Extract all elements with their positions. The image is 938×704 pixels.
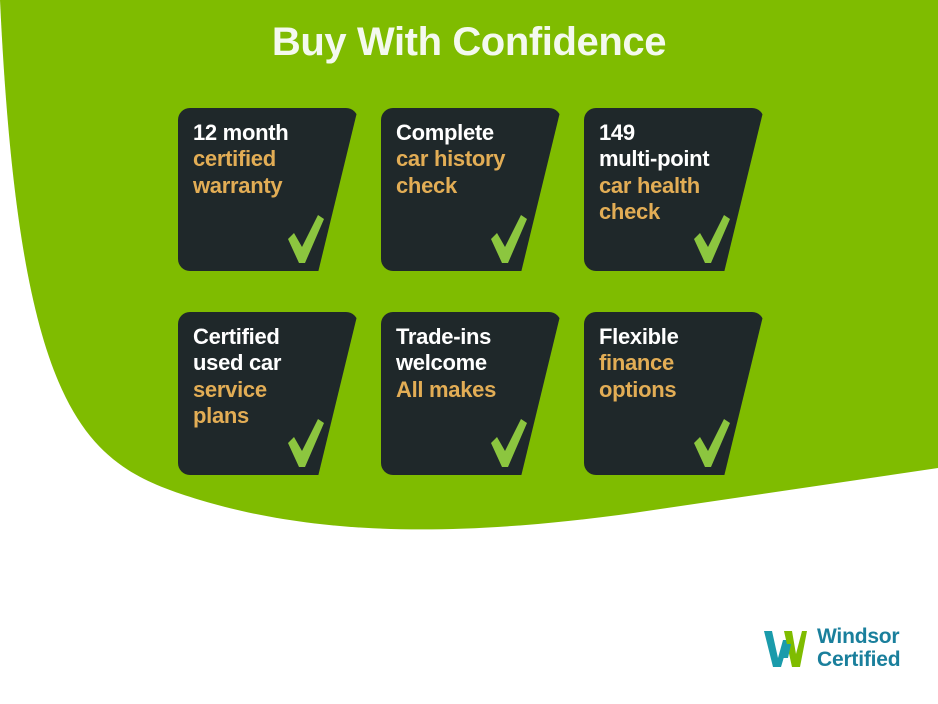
check-icon: [488, 417, 528, 469]
poster-canvas: Buy With Confidence 12 month certified w…: [0, 0, 938, 704]
card-line-gold: finance: [599, 350, 756, 376]
card-line-white: welcome: [396, 350, 553, 376]
brand-name-line1: Windsor: [817, 626, 900, 649]
card-text-block: 12 month certified warranty: [193, 120, 350, 199]
page-title: Buy With Confidence: [0, 18, 938, 66]
check-icon: [691, 417, 731, 469]
card-line-gold: car health: [599, 173, 756, 199]
card-line-gold: check: [396, 173, 553, 199]
check-icon: [691, 213, 731, 265]
card-line-white: used car: [193, 350, 350, 376]
card-text-block: Trade-ins welcome All makes: [396, 324, 553, 403]
card-line-white: 149: [599, 120, 756, 146]
card-line-gold: certified: [193, 146, 350, 172]
brand-logo-text: Windsor Certified: [817, 626, 900, 671]
brand-logo: Windsor Certified: [762, 626, 900, 671]
windsor-w-icon: [762, 628, 808, 670]
card-line-gold: car history: [396, 146, 553, 172]
card-line-gold: check: [599, 199, 756, 225]
card-line-gold: options: [599, 377, 756, 403]
card-line-white: 12 month: [193, 120, 350, 146]
card-text-block: Certified used car service plans: [193, 324, 350, 430]
card-line-gold: service: [193, 377, 350, 403]
card-line-white: Complete: [396, 120, 553, 146]
check-icon: [285, 417, 325, 469]
card-text-block: 149 multi-point car health check: [599, 120, 756, 226]
check-icon: [285, 213, 325, 265]
card-line-gold: All makes: [396, 377, 553, 403]
card-text-block: Flexible finance options: [599, 324, 756, 403]
card-text-block: Complete car history check: [396, 120, 553, 199]
card-line-white: Certified: [193, 324, 350, 350]
card-line-white: Flexible: [599, 324, 756, 350]
card-line-white: Trade-ins: [396, 324, 553, 350]
check-icon: [488, 213, 528, 265]
brand-name-line2: Certified: [817, 649, 900, 672]
card-line-gold: warranty: [193, 173, 350, 199]
card-line-gold: plans: [193, 403, 350, 429]
card-line-white: multi-point: [599, 146, 756, 172]
